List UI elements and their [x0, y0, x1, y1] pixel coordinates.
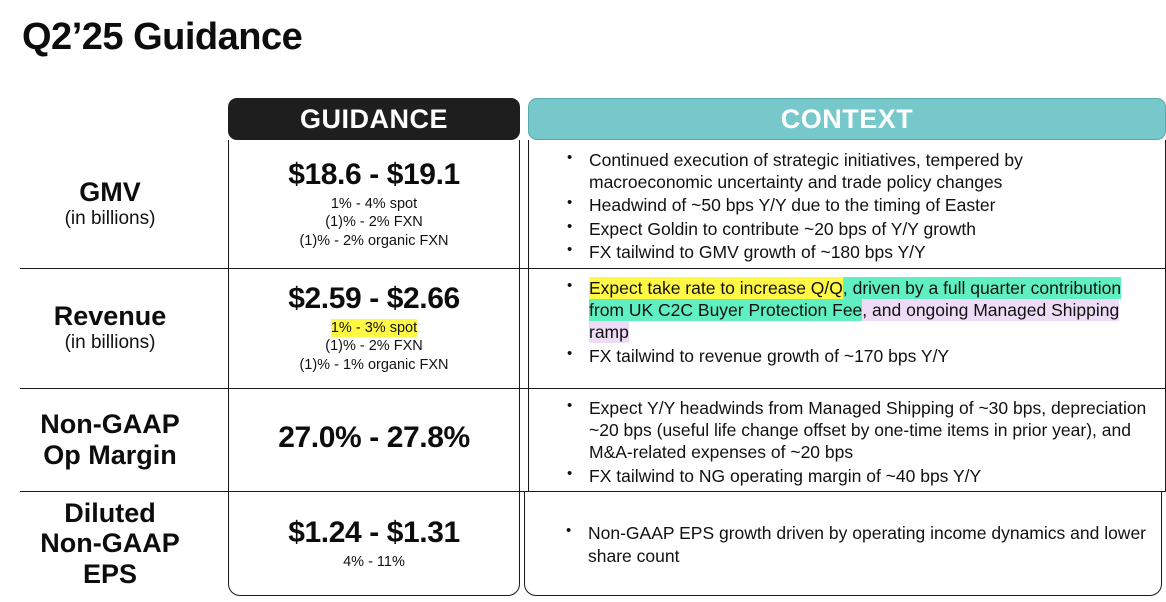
- highlight-yellow: 1% - 3% spot: [331, 319, 417, 337]
- metric-name: Non-GAAPOp Margin: [40, 409, 179, 469]
- context-bullet: Non-GAAP EPS growth driven by operating …: [536, 522, 1152, 566]
- row-context-cell: Continued execution of strategic initiat…: [524, 140, 1166, 268]
- text-run: FX tailwind to NG operating margin of ~4…: [589, 466, 981, 486]
- context-bullet: Expect Y/Y headwinds from Managed Shippi…: [537, 397, 1151, 464]
- guidance-note-line: (1)% - 2% organic FXN: [299, 232, 448, 251]
- guidance-value: $18.6 - $19.1: [288, 158, 460, 192]
- guidance-table: GUIDANCE CONTEXT GMV (in billions) $18.6…: [0, 98, 1166, 598]
- text-run: Expect Y/Y headwinds from Managed Shippi…: [589, 398, 1146, 462]
- metric-name: Revenue: [54, 301, 167, 331]
- guidance-notes: 4% - 11%: [343, 553, 405, 572]
- row-divider: [20, 388, 1166, 389]
- metric-name: GMV: [79, 177, 141, 207]
- guidance-note-line: 1% - 4% spot: [299, 195, 448, 214]
- row-label-cell: Non-GAAPOp Margin: [0, 388, 228, 491]
- guidance-note-line: 1% - 3% spot: [299, 319, 448, 338]
- text-run: (1)% - 2% organic FXN: [299, 233, 448, 249]
- row-divider: [20, 268, 1166, 269]
- context-bullets: Non-GAAP EPS growth driven by operating …: [536, 522, 1152, 567]
- guidance-note-line: (1)% - 2% FXN: [299, 213, 448, 232]
- row-divider: [20, 491, 1166, 492]
- text-run: FX tailwind to revenue growth of ~170 bp…: [589, 346, 949, 366]
- guidance-notes: 1% - 3% spot(1)% - 2% FXN(1)% - 1% organ…: [299, 319, 448, 375]
- context-bullet: Expect Goldin to contribute ~20 bps of Y…: [537, 218, 1151, 240]
- header-guidance-cell: GUIDANCE: [228, 98, 524, 140]
- context-bullet: FX tailwind to revenue growth of ~170 bp…: [537, 345, 1151, 367]
- context-bullets: Expect Y/Y headwinds from Managed Shippi…: [537, 397, 1151, 488]
- row-label-cell: Revenue (in billions): [0, 268, 228, 388]
- context-bullet: Headwind of ~50 bps Y/Y due to the timin…: [537, 194, 1151, 216]
- guidance-value: $2.59 - $2.66: [288, 282, 460, 316]
- guidance-value: 27.0% - 27.8%: [278, 421, 470, 455]
- row-guidance-cell: 27.0% - 27.8%: [228, 388, 524, 491]
- page-title: Q2’25 Guidance: [22, 16, 302, 59]
- table-row: DilutedNon-GAAPEPS $1.24 - $1.31 4% - 11…: [0, 491, 1166, 596]
- context-bullet: FX tailwind to NG operating margin of ~4…: [537, 465, 1151, 487]
- context-bullets: Continued execution of strategic initiat…: [537, 149, 1151, 264]
- text-run: Non-GAAP EPS growth driven by operating …: [588, 523, 1146, 565]
- guidance-notes: 1% - 4% spot(1)% - 2% FXN(1)% - 2% organ…: [299, 195, 448, 251]
- guidance-note-line: (1)% - 2% FXN: [299, 337, 448, 356]
- text-run: (1)% - 2% FXN: [325, 338, 423, 354]
- row-label-cell: GMV (in billions): [0, 140, 228, 268]
- text-run: Continued execution of strategic initiat…: [589, 150, 1023, 192]
- header-guidance-label: GUIDANCE: [228, 98, 520, 140]
- text-run: 1% - 4% spot: [331, 196, 417, 212]
- table-row: GMV (in billions) $18.6 - $19.1 1% - 4% …: [0, 140, 1166, 268]
- row-context-cell: Expect Y/Y headwinds from Managed Shippi…: [524, 388, 1166, 491]
- table-row: Non-GAAPOp Margin 27.0% - 27.8% Expect Y…: [0, 388, 1166, 491]
- table-row: Revenue (in billions) $2.59 - $2.66 1% -…: [0, 268, 1166, 388]
- table-header-row: GUIDANCE CONTEXT: [0, 98, 1166, 140]
- guidance-value: $1.24 - $1.31: [288, 516, 460, 550]
- context-bullet: FX tailwind to GMV growth of ~180 bps Y/…: [537, 241, 1151, 263]
- header-metric-spacer: [0, 98, 228, 140]
- guidance-note-line: 4% - 11%: [343, 553, 405, 572]
- context-bullet: Continued execution of strategic initiat…: [537, 149, 1151, 193]
- metric-unit: (in billions): [65, 208, 156, 231]
- row-guidance-cell: $1.24 - $1.31 4% - 11%: [228, 491, 524, 596]
- row-context-cell: Expect take rate to increase Q/Q, driven…: [524, 268, 1166, 388]
- text-run: 4% - 11%: [343, 554, 405, 570]
- context-bullets: Expect take rate to increase Q/Q, driven…: [537, 277, 1151, 368]
- row-guidance-cell: $2.59 - $2.66 1% - 3% spot(1)% - 2% FXN(…: [228, 268, 524, 388]
- row-guidance-cell: $18.6 - $19.1 1% - 4% spot(1)% - 2% FXN(…: [228, 140, 524, 268]
- text-run: (1)% - 2% FXN: [325, 214, 423, 230]
- text-run: FX tailwind to GMV growth of ~180 bps Y/…: [589, 242, 926, 262]
- text-run: (1)% - 1% organic FXN: [299, 357, 448, 373]
- context-bullet: Expect take rate to increase Q/Q, driven…: [537, 277, 1151, 344]
- text-run: Expect Goldin to contribute ~20 bps of Y…: [589, 219, 976, 239]
- guidance-slide: Q2’25 Guidance GUIDANCE CONTEXT GMV (in …: [0, 0, 1166, 602]
- header-context-cell: CONTEXT: [524, 98, 1166, 140]
- metric-name: DilutedNon-GAAPEPS: [40, 498, 179, 589]
- metric-unit: (in billions): [65, 332, 156, 355]
- highlight-yellow: Expect take rate to increase Q/Q: [589, 277, 843, 299]
- guidance-note-line: (1)% - 1% organic FXN: [299, 356, 448, 375]
- header-context-label: CONTEXT: [528, 98, 1166, 140]
- row-label-cell: DilutedNon-GAAPEPS: [0, 491, 228, 596]
- row-context-cell: Non-GAAP EPS growth driven by operating …: [524, 491, 1166, 596]
- text-run: Headwind of ~50 bps Y/Y due to the timin…: [589, 195, 996, 215]
